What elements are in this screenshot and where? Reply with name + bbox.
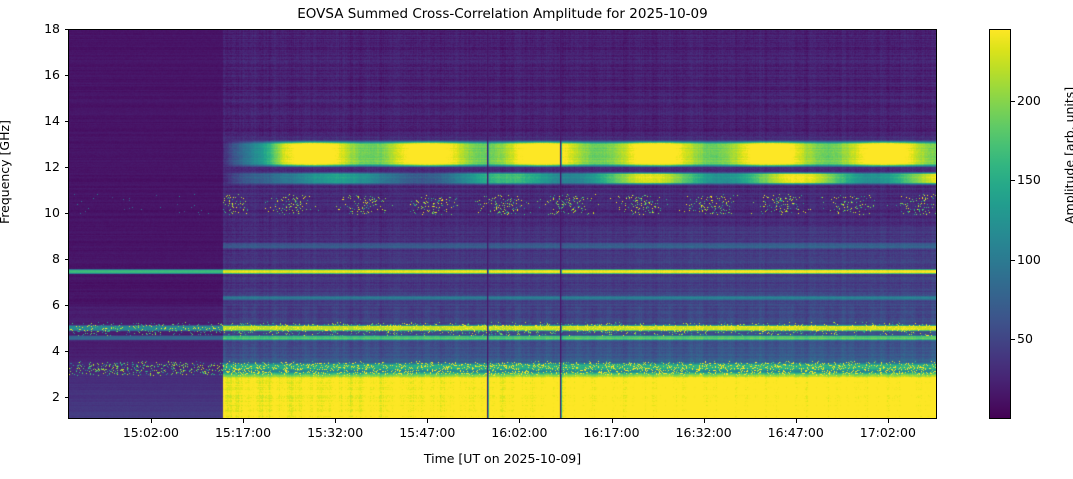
x-axis-tick-label: 16:32:00: [659, 426, 749, 439]
x-axis-tick-label: 16:02:00: [474, 426, 564, 439]
colorbar-tick-label: 100: [1017, 254, 1041, 267]
y-axis-tick-label: 14: [20, 115, 60, 128]
colorbar-tick-mark: [1011, 180, 1015, 181]
y-axis-tick-label: 6: [20, 299, 60, 312]
colorbar-tick-label: 150: [1017, 174, 1041, 187]
y-axis-tick-mark: [65, 397, 69, 398]
colorbar-tick-mark: [1011, 260, 1015, 261]
x-axis-tick-label: 15:17:00: [198, 426, 288, 439]
colorbar-tick-label: 200: [1017, 95, 1041, 108]
x-axis-tick-mark: [704, 419, 705, 423]
x-axis-tick-mark: [796, 419, 797, 423]
x-axis-tick-label: 15:02:00: [106, 426, 196, 439]
x-axis-tick-mark: [335, 419, 336, 423]
x-axis-tick-label: 16:47:00: [751, 426, 841, 439]
figure-canvas: EOVSA Summed Cross-Correlation Amplitude…: [0, 0, 1073, 479]
y-axis-tick-mark: [65, 75, 69, 76]
y-axis-tick-mark: [65, 167, 69, 168]
x-axis-tick-mark: [427, 419, 428, 423]
x-axis-tick-mark: [888, 419, 889, 423]
y-axis-tick-label: 12: [20, 161, 60, 174]
y-axis-tick-mark: [65, 305, 69, 306]
x-axis-tick-mark: [243, 419, 244, 423]
y-axis-tick-mark: [65, 351, 69, 352]
colorbar-tick-mark: [1011, 339, 1015, 340]
page-title: EOVSA Summed Cross-Correlation Amplitude…: [68, 6, 937, 22]
colorbar-label: Amplitude [arb. units]: [1063, 87, 1073, 224]
x-axis-label: Time [UT on 2025-10-09]: [68, 452, 937, 466]
y-axis-tick-label: 2: [20, 391, 60, 404]
y-axis-tick-mark: [65, 121, 69, 122]
x-axis-tick-mark: [612, 419, 613, 423]
colorbar-tick-label: 50: [1017, 333, 1033, 346]
x-axis-tick-mark: [519, 419, 520, 423]
x-axis-tick-label: 15:32:00: [290, 426, 380, 439]
y-axis-tick-label: 8: [20, 253, 60, 266]
x-axis-tick-label: 17:02:00: [843, 426, 933, 439]
y-axis-tick-label: 16: [20, 69, 60, 82]
y-axis-tick-mark: [65, 29, 69, 30]
colorbar-gradient: [990, 30, 1010, 418]
y-axis-tick-label: 18: [20, 23, 60, 36]
x-axis-tick-label: 16:17:00: [567, 426, 657, 439]
x-axis-tick-mark: [151, 419, 152, 423]
y-axis-label: Frequency [GHz]: [0, 120, 11, 224]
colorbar-tick-mark: [1011, 101, 1015, 102]
spectrogram-image[interactable]: [69, 30, 937, 419]
y-axis-tick-mark: [65, 259, 69, 260]
colorbar[interactable]: [989, 29, 1011, 419]
y-axis-tick-label: 4: [20, 345, 60, 358]
y-axis-tick-mark: [65, 213, 69, 214]
x-axis-tick-label: 15:47:00: [382, 426, 472, 439]
y-axis-tick-label: 10: [20, 207, 60, 220]
spectrogram-axes[interactable]: [68, 29, 937, 419]
